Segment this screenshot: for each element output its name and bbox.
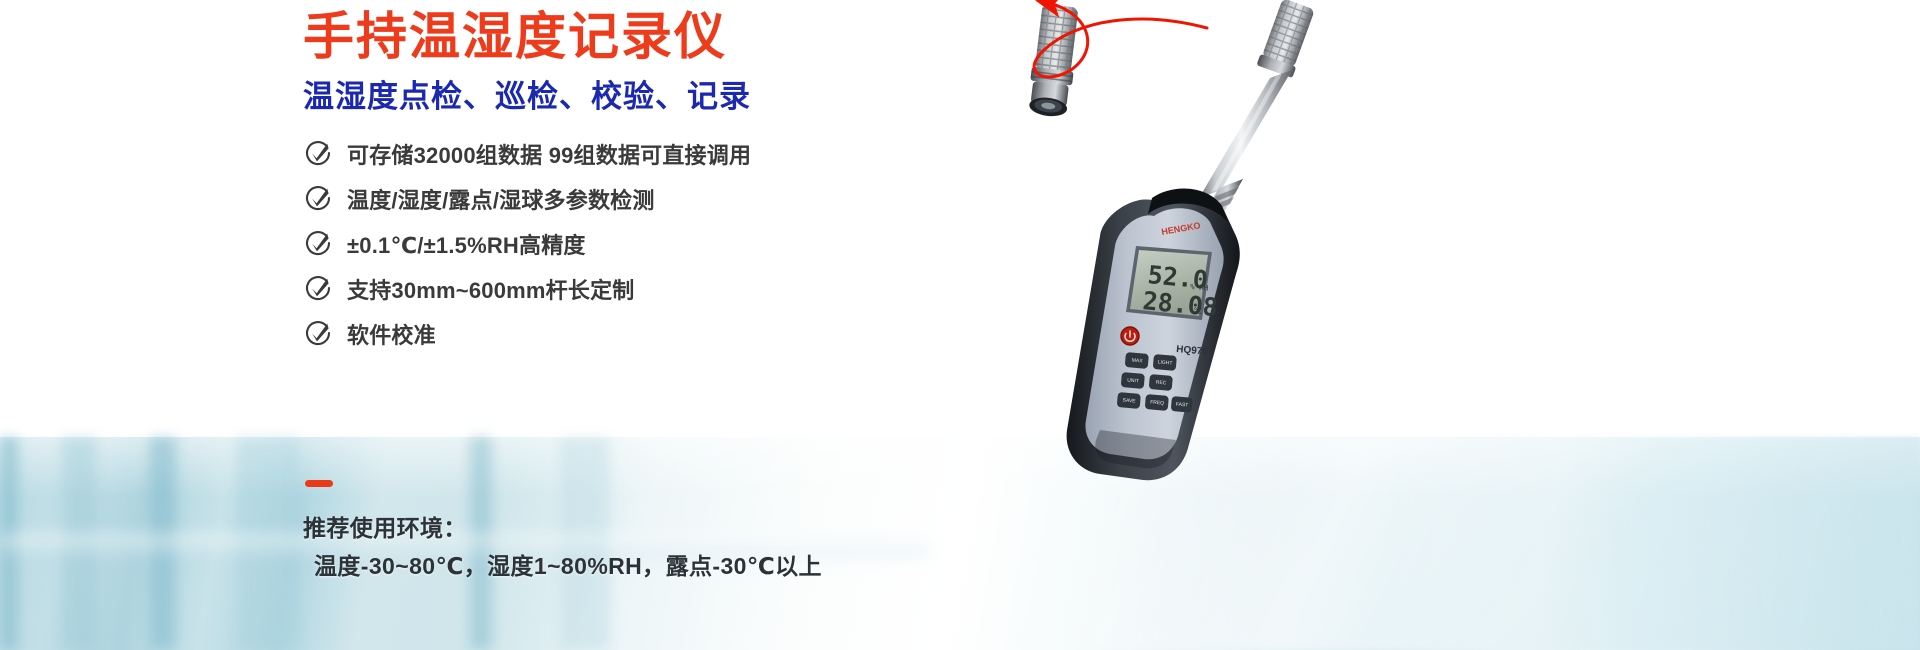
lcd-readout: 52.0 % RH 28.08 ℃ xyxy=(1141,260,1219,322)
page-subtitle: 温湿度点检、巡检、校验、记录 xyxy=(303,79,751,115)
circle-check-icon xyxy=(303,184,333,214)
circle-check-icon xyxy=(303,229,333,259)
svg-text:REC: REC xyxy=(1156,380,1167,387)
svg-text:FAST: FAST xyxy=(1176,401,1189,408)
list-item: 温度/湿度/露点/湿球多参数检测 xyxy=(303,176,963,221)
feature-list: 可存储32000组数据 99组数据可直接调用 温度/湿度/露点/湿球多参数检测 xyxy=(303,131,963,356)
temperature-unit: ℃ xyxy=(1193,306,1203,316)
environment-note-title: 推荐使用环境： xyxy=(303,510,1023,548)
svg-text:UNIT: UNIT xyxy=(1127,378,1139,385)
probe-assembly xyxy=(1199,0,1317,222)
list-item: 支持30mm~600mm杆长定制 xyxy=(303,266,963,311)
list-item-label: 温度/湿度/露点/湿球多参数检测 xyxy=(347,183,655,215)
circle-check-icon xyxy=(303,139,333,169)
list-item-label: 支持30mm~600mm杆长定制 xyxy=(347,273,634,305)
svg-text:MAX: MAX xyxy=(1131,358,1143,365)
product-banner: 手持温湿度记录仪 温湿度点检、巡检、校验、记录 可存储32000组数据 99组数… xyxy=(0,0,1920,650)
circle-check-icon xyxy=(303,319,333,349)
page-title: 手持温湿度记录仪 xyxy=(303,8,727,65)
list-item: 可存储32000组数据 99组数据可直接调用 xyxy=(303,131,963,176)
list-item: ±0.1℃/±1.5%RH高精度 xyxy=(303,221,963,266)
circle-check-icon xyxy=(303,274,333,304)
svg-text:SAVE: SAVE xyxy=(1122,397,1136,404)
accent-dash xyxy=(305,480,333,487)
list-item-label: ±0.1℃/±1.5%RH高精度 xyxy=(347,228,586,260)
list-item-label: 软件校准 xyxy=(347,318,436,350)
environment-note: 推荐使用环境： 温度-30~80℃，湿度1~80%RH，露点-30℃以上 xyxy=(303,480,1023,586)
product-image: HENGKO 52.0 % RH 28.08 ℃ HQ970 xyxy=(940,0,1920,650)
svg-text:FREQ: FREQ xyxy=(1150,399,1164,406)
list-item-label: 可存储32000组数据 99组数据可直接调用 xyxy=(347,138,751,170)
product-illustration: HENGKO 52.0 % RH 28.08 ℃ HQ970 xyxy=(940,0,1920,650)
svg-text:LIGHT: LIGHT xyxy=(1157,359,1172,366)
environment-note-detail: 温度-30~80℃，湿度1~80%RH，露点-30℃以上 xyxy=(303,548,1023,586)
list-item: 软件校准 xyxy=(303,311,963,356)
meter-body: HENGKO 52.0 % RH 28.08 ℃ HQ970 xyxy=(1067,189,1240,481)
text-column: 手持温湿度记录仪 温湿度点检、巡检、校验、记录 可存储32000组数据 99组数… xyxy=(0,0,1000,650)
